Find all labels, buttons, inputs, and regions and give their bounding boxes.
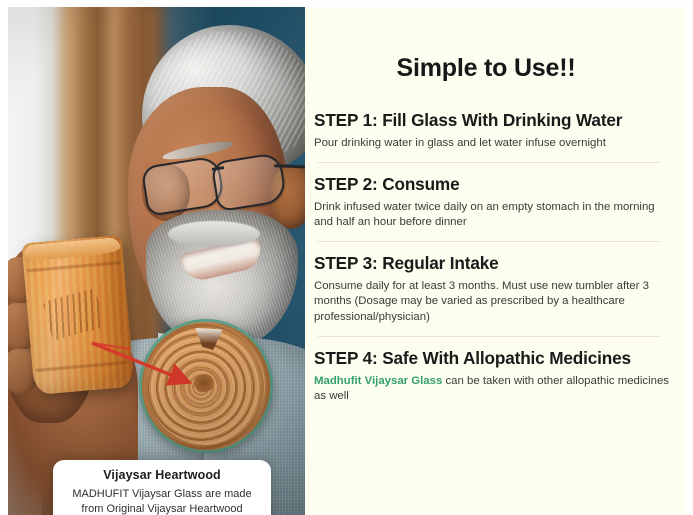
step-item-1: STEP 1: Fill Glass With Drinking Water P… [314,110,672,152]
caption-card: Vijaysar Heartwood MADHUFIT Vijaysar Gla… [53,460,271,515]
step-item-3: STEP 3: Regular Intake Consume daily for… [314,253,672,326]
step-body: Consume daily for at least 3 months. Mus… [314,279,672,326]
step-heading: STEP 2: Consume [314,174,672,195]
step-body: Madhufit Vijaysar Glass can be taken wit… [314,374,672,405]
step-item-4: STEP 4: Safe With Allopathic Medicines M… [314,348,672,405]
step-item-2: STEP 2: Consume Drink infused water twic… [314,174,672,231]
instructions-panel: Simple to Use!! STEP 1: Fill Glass With … [305,7,685,515]
step-divider [318,162,660,163]
step-body: Pour drinking water in glass and let wat… [314,136,672,152]
step-heading: STEP 3: Regular Intake [314,253,672,274]
step-divider [318,241,660,242]
step-divider [318,336,660,337]
step-heading: STEP 1: Fill Glass With Drinking Water [314,110,672,131]
caption-body-line1: MADHUFIT Vijaysar Glass are made [63,487,261,502]
brand-name-highlight: Madhufit Vijaysar Glass [314,375,442,387]
caption-body-line2: from Original Vijaysar Heartwood [63,502,261,515]
step-body: Drink infused water twice daily on an em… [314,200,672,231]
photo-vignette [8,7,305,515]
promo-infographic: Vijaysar Heartwood MADHUFIT Vijaysar Gla… [0,0,693,515]
page-title: Simple to Use!! [314,54,672,83]
steps-list: STEP 1: Fill Glass With Drinking Water P… [314,110,672,405]
caption-title: Vijaysar Heartwood [63,468,261,483]
step-heading: STEP 4: Safe With Allopathic Medicines [314,348,672,369]
product-photo: Vijaysar Heartwood MADHUFIT Vijaysar Gla… [8,7,305,515]
